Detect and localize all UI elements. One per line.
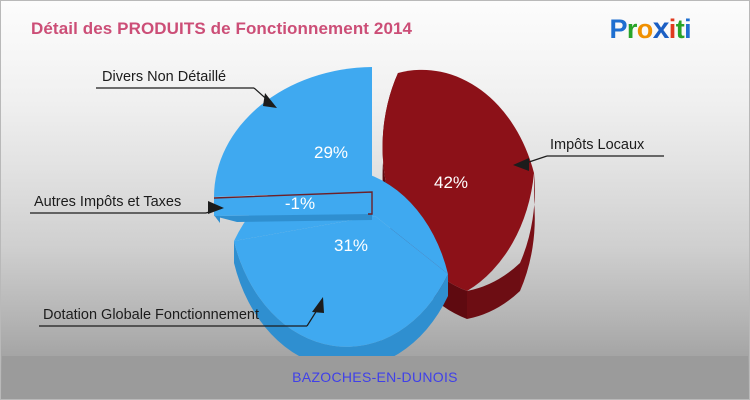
- callout-label-autres: Autres Impôts et Taxes: [34, 194, 181, 210]
- commune-name: BAZOCHES-EN-DUNOIS: [292, 369, 458, 385]
- callout-impots-locaux: Impôts Locaux: [513, 137, 664, 171]
- slice-label-divers: 29%: [314, 143, 348, 162]
- slice-label-impots: 42%: [434, 173, 468, 192]
- callout-label-dotation: Dotation Globale Fonctionnement: [43, 307, 259, 323]
- callout-divers-non-detaille: Divers Non Détaillé: [96, 69, 277, 108]
- callout-autres-impots: Autres Impôts et Taxes: [30, 194, 224, 214]
- callout-label-impots: Impôts Locaux: [550, 137, 645, 153]
- pie-chart-graphic: 29% -1% 31% 42% Divers Non Détaillé Autr…: [1, 1, 750, 400]
- chart-window: Détail des PRODUITS de Fonctionnement 20…: [0, 0, 750, 400]
- slice-label-autres: -1%: [285, 194, 315, 213]
- footer-bar: BAZOCHES-EN-DUNOIS: [2, 356, 748, 398]
- callout-label-divers: Divers Non Détaillé: [102, 69, 226, 85]
- slice-label-dotation: 31%: [334, 236, 368, 255]
